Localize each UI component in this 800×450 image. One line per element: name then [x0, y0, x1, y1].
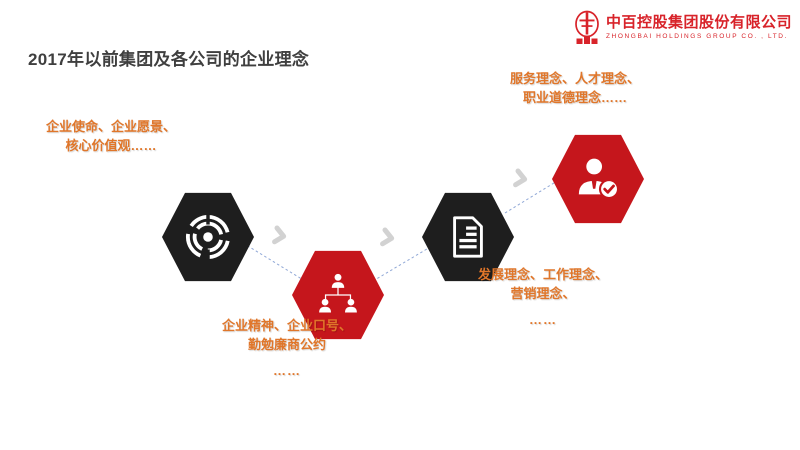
- caption-node-4: 服务理念、人才理念、 职业道德理念……: [510, 70, 640, 108]
- chevron-right-icon: [516, 171, 526, 186]
- connector-layer: [0, 0, 800, 450]
- caption-node-2: 企业精神、企业口号、 勤勉廉商公约 ……: [222, 317, 352, 381]
- caption-line: 服务理念、人才理念、: [510, 70, 640, 89]
- caption-ellipsis: ……: [478, 311, 608, 330]
- chevron-right-icon: [275, 228, 285, 243]
- caption-line: 职业道德理念……: [510, 89, 640, 108]
- person-check-badge-icon: [575, 156, 621, 202]
- caption-ellipsis: ……: [222, 362, 352, 381]
- org-chart-people-icon: [315, 272, 361, 318]
- process-flow-diagram: 企业使命、企业愿景、 核心价值观…… 企业精神、企业口号、 勤勉廉商公约 …… …: [0, 0, 800, 450]
- target-bullseye-icon: [185, 214, 231, 260]
- caption-line: 核心价值观……: [46, 137, 176, 156]
- caption-line: 企业精神、企业口号、: [222, 317, 352, 336]
- caption-line: 发展理念、工作理念、: [478, 266, 608, 285]
- document-page-icon: [445, 214, 491, 260]
- caption-line: 营销理念、: [478, 285, 608, 304]
- slide-canvas: 2017年以前集团及各公司的企业理念 中百控股集团股份有限公司 ZHONGBAI…: [0, 0, 800, 450]
- caption-line: 勤勉廉商公约: [222, 336, 352, 355]
- caption-node-1: 企业使命、企业愿景、 核心价值观……: [46, 118, 176, 156]
- flow-node-4[interactable]: [552, 133, 644, 225]
- caption-node-3: 发展理念、工作理念、 营销理念、 ……: [478, 266, 608, 330]
- chevron-right-icon: [383, 230, 393, 245]
- caption-line: 企业使命、企业愿景、: [46, 118, 176, 137]
- flow-node-1[interactable]: [162, 191, 254, 283]
